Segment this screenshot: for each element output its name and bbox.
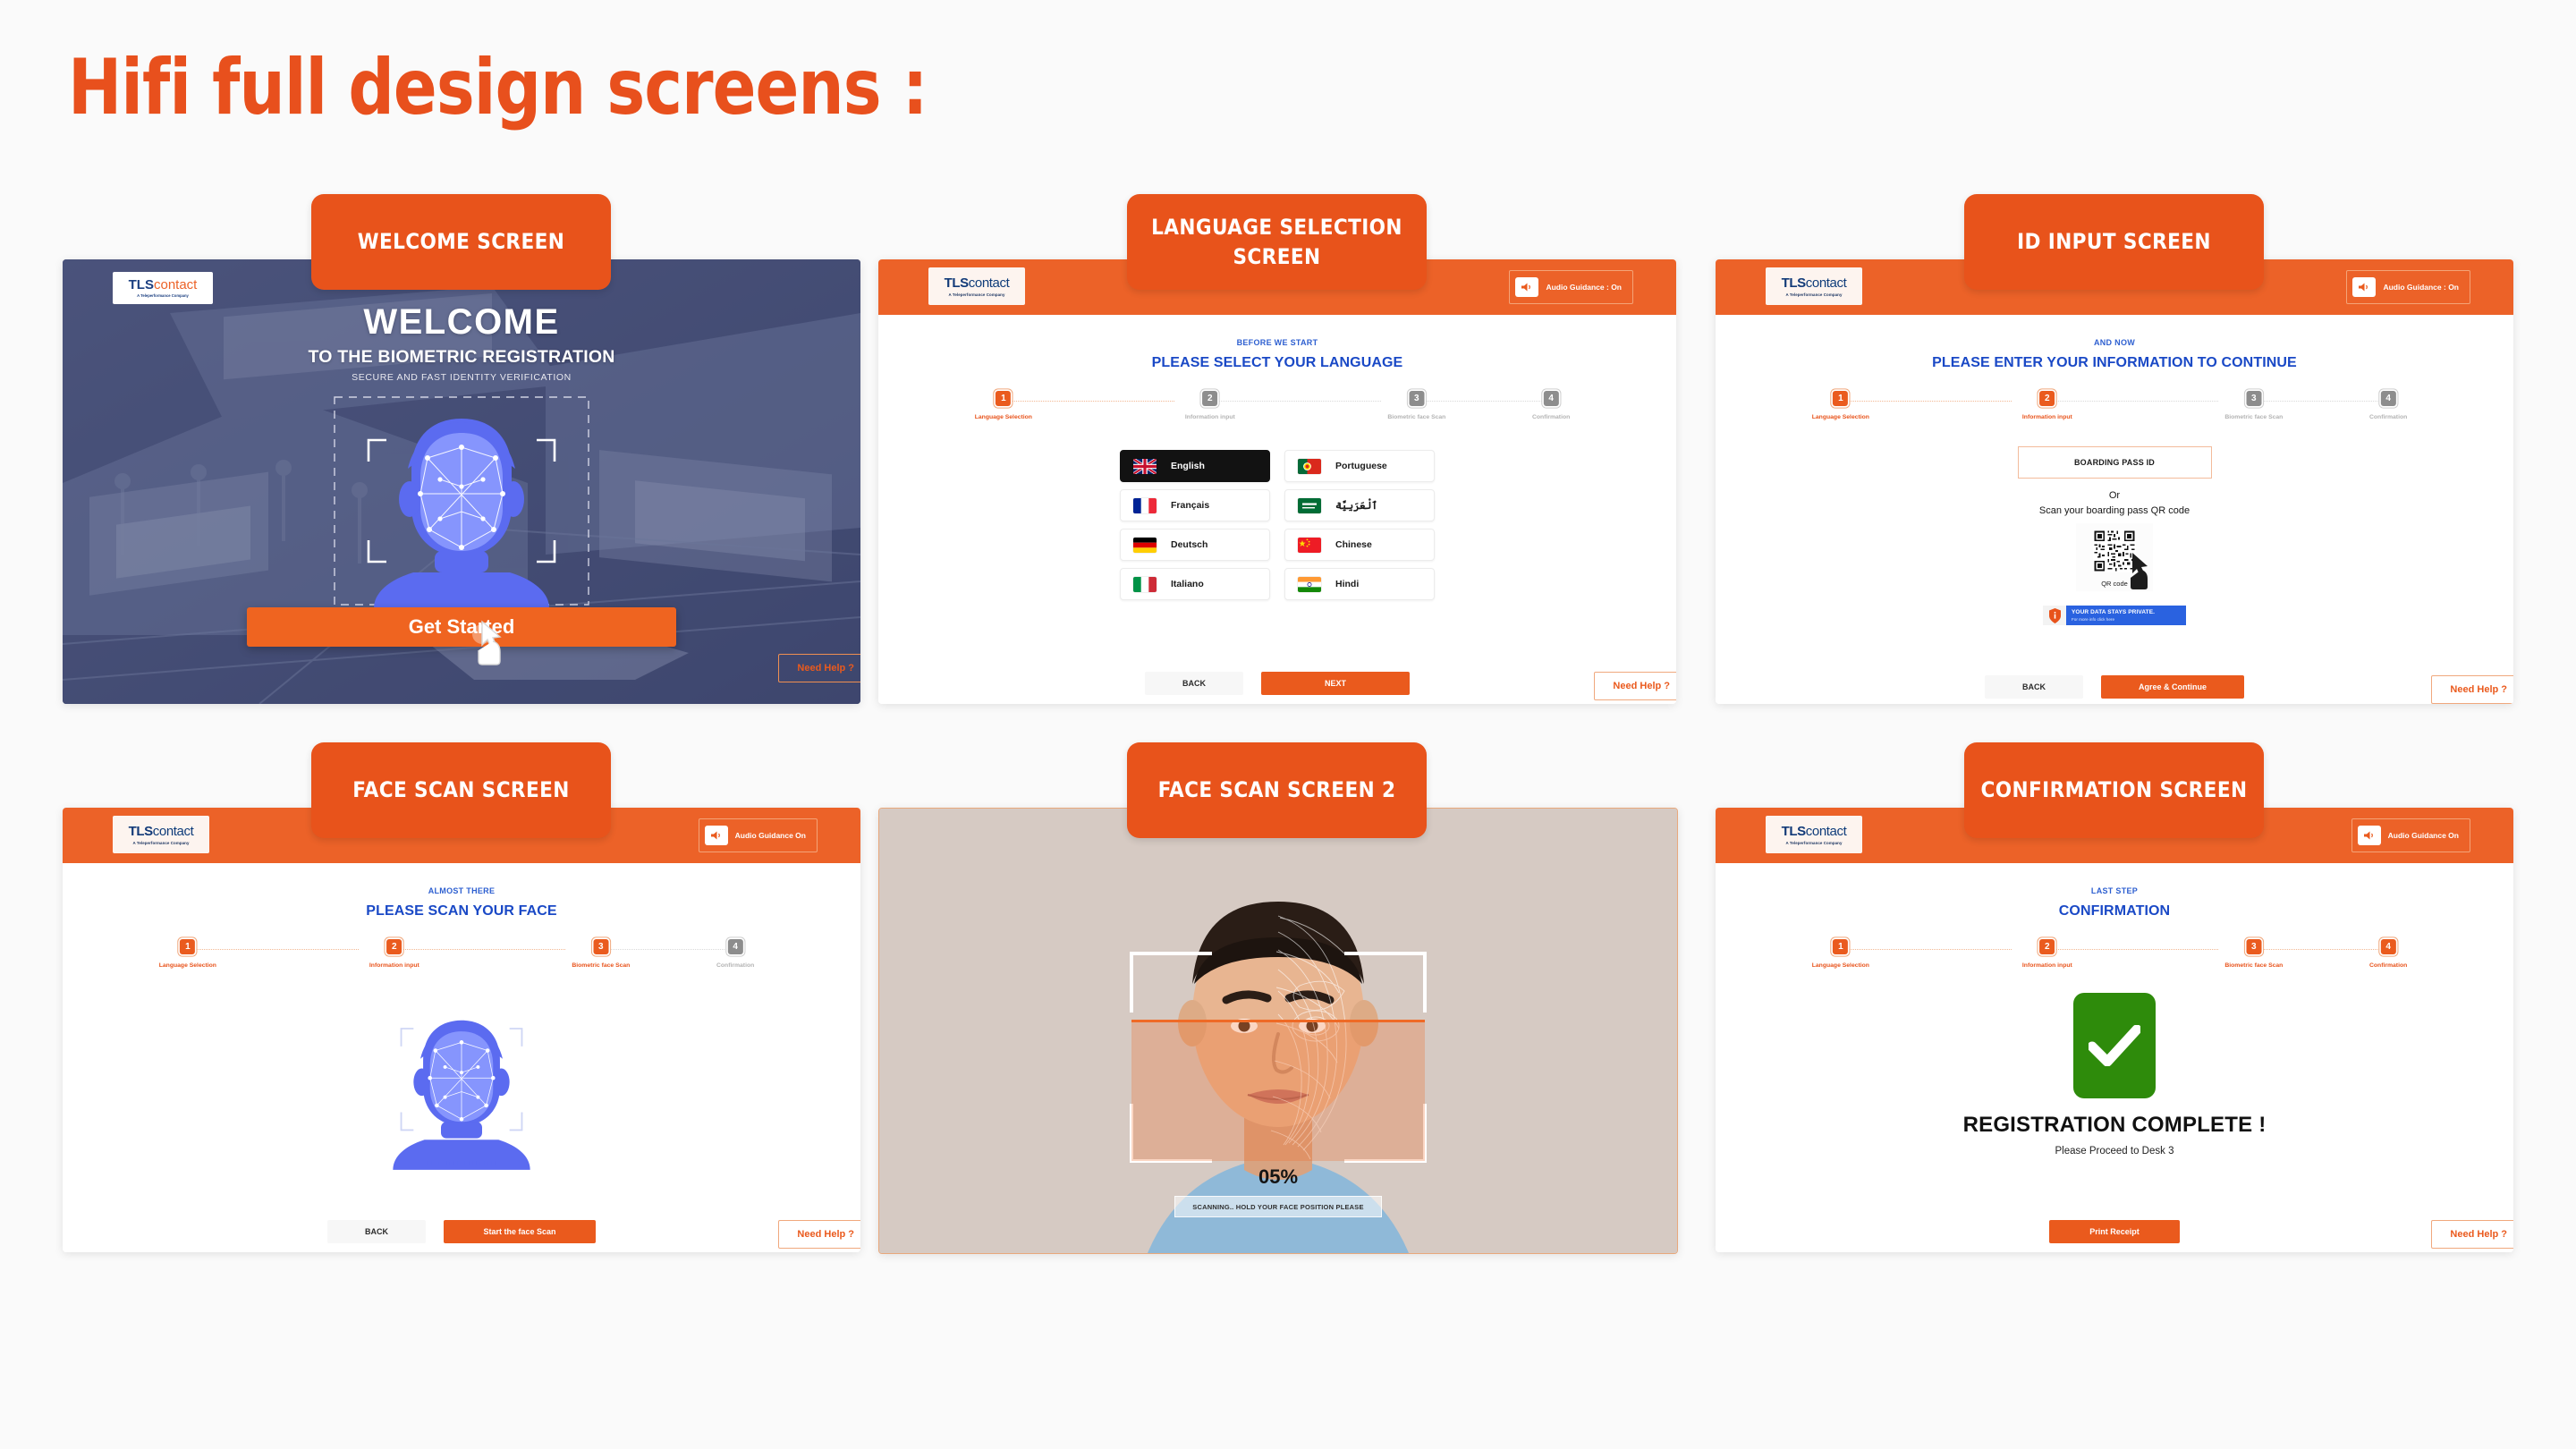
logo-tagline: A Teleperformance Company — [132, 841, 189, 845]
screen-card-face-scan-2: FACE SCAN SCREEN 2 — [878, 808, 1676, 1252]
step-1-number: 1 — [180, 939, 195, 954]
need-help-button[interactable]: Need Help ? — [778, 654, 860, 682]
italy-flag-icon — [1133, 577, 1157, 592]
speaker-icon — [2358, 826, 2381, 845]
face-scan-illustration — [327, 394, 596, 613]
print-receipt-label: Print Receipt — [2089, 1227, 2140, 1236]
agree-continue-label: Agree & Continue — [2139, 682, 2207, 691]
page-title: Hifi full design screens : — [68, 43, 928, 132]
speaker-icon — [1515, 277, 1538, 297]
eyebrow-text: AND NOW — [1716, 338, 2513, 347]
step-2-label: Information input — [2022, 414, 2072, 420]
step-1-number: 1 — [1833, 939, 1848, 954]
tls-logo: TLScontact A Teleperformance Company — [928, 267, 1025, 305]
step-3-number: 3 — [2246, 939, 2261, 954]
progress-stepper: 1 Language Selection 2 Information input… — [1803, 391, 2426, 428]
language-label: Chinese — [1335, 539, 1372, 550]
france-flag-icon — [1133, 498, 1157, 513]
logo-contact-text: contact — [1806, 824, 1847, 839]
agree-continue-button[interactable]: Agree & Continue — [2101, 675, 2244, 699]
back-label: BACK — [1182, 679, 1206, 688]
scan-status-bar: SCANNING.. HOLD YOUR FACE POSITION PLEAS… — [1174, 1196, 1382, 1217]
step-2-label: Information input — [369, 962, 419, 969]
welcome-title: WELCOME — [63, 302, 860, 343]
shield-icon — [2043, 606, 2066, 625]
id-input-body: AND NOW PLEASE ENTER YOUR INFORMATION TO… — [1716, 338, 2513, 704]
screen-card-welcome: WELCOME SCREEN — [63, 259, 860, 704]
step-2[interactable]: 2 Information input — [2022, 939, 2072, 969]
eyebrow-text: BEFORE WE START — [878, 338, 1676, 347]
logo-tls-text: TLS — [945, 275, 969, 291]
or-text: Or — [1716, 490, 2513, 501]
action-buttons: BACK NEXT — [878, 672, 1676, 695]
back-label: BACK — [365, 1227, 388, 1236]
step-4-label: Confirmation — [1532, 414, 1570, 420]
action-buttons: BACK Start the face Scan — [63, 1220, 860, 1243]
need-help-label: Need Help ? — [2450, 684, 2507, 695]
step-3[interactable]: 3 Biometric face Scan — [572, 939, 630, 969]
screen-heading: PLEASE ENTER YOUR INFORMATION TO CONTINU… — [1716, 355, 2513, 371]
portugal-flag-icon — [1298, 459, 1321, 474]
step-1[interactable]: 1 Language Selection — [975, 391, 1032, 420]
need-help-label: Need Help ? — [2450, 1229, 2507, 1240]
start-face-scan-button[interactable]: Start the face Scan — [444, 1220, 596, 1243]
saudi-flag-icon — [1298, 498, 1321, 513]
welcome-subtitle: TO THE BIOMETRIC REGISTRATION — [63, 347, 860, 368]
need-help-label: Need Help ? — [1613, 681, 1670, 691]
language-option-hindi[interactable]: Hindi — [1284, 568, 1435, 600]
back-label: BACK — [2022, 682, 2046, 691]
step-1[interactable]: 1 Language Selection — [159, 939, 216, 969]
audio-guidance-label: Audio Guidance On — [2388, 831, 2459, 840]
language-label: English — [1171, 461, 1205, 471]
screen-tab-welcome: WELCOME SCREEN — [311, 194, 611, 290]
step-1[interactable]: 1 Language Selection — [1812, 939, 1869, 969]
screen-tab-face-scan: FACE SCAN SCREEN — [311, 742, 611, 838]
logo-tls-text: TLS — [1782, 824, 1806, 839]
audio-guidance-label: Audio Guidance On — [735, 831, 806, 840]
scan-hint-text: Scan your boarding pass QR code — [1716, 505, 2513, 516]
privacy-title: YOUR DATA STAYS PRIVATE. — [2072, 609, 2181, 615]
step-3-label: Biometric face Scan — [2224, 962, 2283, 969]
logo-tls-text: TLS — [129, 277, 154, 292]
screen-card-language: LANGUAGE SELECTION SCREEN TLScontact A T… — [878, 259, 1676, 704]
audio-guidance-label: Audio Guidance : On — [2383, 283, 2459, 292]
screen-card-id-input: ID INPUT SCREEN TLScontact A Teleperform… — [1716, 259, 2513, 704]
eyebrow-text: LAST STEP — [1716, 886, 2513, 895]
tls-logo: TLScontact A Teleperformance Company — [1766, 816, 1862, 853]
step-3-label: Biometric face Scan — [572, 962, 630, 969]
screen-heading: CONFIRMATION — [1716, 903, 2513, 919]
language-label: ٱلْعَرَبِيَّة — [1335, 499, 1377, 512]
step-4-number: 4 — [1544, 391, 1559, 406]
logo-contact-text: contact — [1806, 275, 1847, 291]
speaker-icon — [2352, 277, 2376, 297]
qr-code-scan-target[interactable]: QR code — [2076, 523, 2153, 591]
qr-code-icon — [2093, 530, 2136, 572]
uk-flag-icon — [1133, 459, 1157, 474]
id-input-screen: TLScontact A Teleperformance Company Aud… — [1716, 259, 2513, 704]
step-1-label: Language Selection — [1812, 962, 1869, 969]
back-button[interactable]: BACK — [327, 1220, 426, 1243]
audio-guidance-toggle[interactable]: Audio Guidance : On — [2346, 270, 2470, 304]
face-scan-screen: TLScontact A Teleperformance Company Aud… — [63, 808, 860, 1252]
privacy-subtitle: For more info click here — [2072, 617, 2181, 622]
welcome-screen: TLScontact A Teleperformance Company WEL… — [63, 259, 860, 704]
language-screen-body: BEFORE WE START PLEASE SELECT YOUR LANGU… — [878, 338, 1676, 704]
back-button[interactable]: BACK — [1145, 672, 1243, 695]
step-4-number: 4 — [2381, 939, 2396, 954]
step-3-number: 3 — [1409, 391, 1424, 406]
screen-card-confirmation: CONFIRMATION SCREEN TLScontact A Teleper… — [1716, 808, 2513, 1252]
privacy-badge[interactable]: YOUR DATA STAYS PRIVATE. For more info c… — [2043, 606, 2186, 625]
step-1-number: 1 — [996, 391, 1011, 406]
boarding-pass-placeholder: BOARDING PASS ID — [2074, 458, 2155, 467]
back-button[interactable]: BACK — [1985, 675, 2083, 699]
start-face-scan-label: Start the face Scan — [483, 1227, 555, 1236]
step-1-label: Language Selection — [159, 962, 216, 969]
step-2-number: 2 — [386, 939, 402, 954]
step-3-label: Biometric face Scan — [2224, 414, 2283, 420]
logo-contact-text: contact — [154, 277, 197, 292]
step-2-label: Information input — [2022, 962, 2072, 969]
step-4-number: 4 — [2381, 391, 2396, 406]
progress-stepper: 1 Language Selection 2 Information input… — [150, 939, 773, 977]
language-option-italiano[interactable]: Italiano — [1120, 568, 1270, 600]
registration-complete-subtitle: Please Proceed to Desk 3 — [1716, 1146, 2513, 1157]
audio-guidance-toggle[interactable]: Audio Guidance : On — [1509, 270, 1633, 304]
face-scan-body: ALMOST THERE PLEASE SCAN YOUR FACE 1 Lan… — [63, 886, 860, 1252]
step-3-label: Biometric face Scan — [1387, 414, 1445, 420]
next-label: NEXT — [1325, 679, 1346, 688]
confirmation-screen: TLScontact A Teleperformance Company Aud… — [1716, 808, 2513, 1252]
get-started-label: Get Started — [409, 615, 515, 639]
logo-contact-text: contact — [153, 824, 194, 839]
language-option-francais[interactable]: Français — [1120, 489, 1270, 521]
check-icon — [2073, 993, 2156, 1098]
step-2-number: 2 — [1202, 391, 1217, 406]
screen-tab-language: LANGUAGE SELECTION SCREEN — [1127, 194, 1427, 290]
step-4[interactable]: 4 Confirmation — [2369, 939, 2407, 969]
step-3-number: 3 — [2246, 391, 2261, 406]
step-3[interactable]: 3 Biometric face Scan — [1387, 391, 1445, 420]
language-label: Portuguese — [1335, 461, 1387, 471]
audio-guidance-label: Audio Guidance : On — [1546, 283, 1622, 292]
step-2[interactable]: 2 Information input — [2022, 391, 2072, 420]
speaker-icon — [705, 826, 728, 845]
scan-progress-percent: 05% — [1258, 1165, 1298, 1189]
language-option-arabic[interactable]: ٱلْعَرَبِيَّة — [1284, 489, 1435, 521]
progress-stepper: 1 Language Selection 2 Information input… — [966, 391, 1589, 428]
step-1[interactable]: 1 Language Selection — [1812, 391, 1869, 420]
step-2[interactable]: 2 Information input — [1185, 391, 1235, 420]
screen-tab-face-scan-2: FACE SCAN SCREEN 2 — [1127, 742, 1427, 838]
step-1-number: 1 — [1833, 391, 1848, 406]
logo-tagline: A Teleperformance Company — [948, 292, 1004, 297]
get-started-button[interactable]: Get Started — [247, 607, 676, 647]
step-4-number: 4 — [728, 939, 743, 954]
print-receipt-button[interactable]: Print Receipt — [2049, 1220, 2180, 1243]
logo-tagline: A Teleperformance Company — [1785, 292, 1842, 297]
germany-flag-icon — [1133, 538, 1157, 553]
face-scan-illustration — [359, 1001, 564, 1184]
registration-complete-title: REGISTRATION COMPLETE ! — [1716, 1113, 2513, 1138]
screen-tab-id-input: ID INPUT SCREEN — [1964, 194, 2264, 290]
logo-contact-text: contact — [969, 275, 1010, 291]
step-4-label: Confirmation — [716, 962, 754, 969]
progress-stepper: 1 Language Selection 2 Information input… — [1803, 939, 2426, 977]
boarding-pass-id-input[interactable]: BOARDING PASS ID — [2018, 446, 2212, 479]
logo-tagline: A Teleperformance Company — [1785, 841, 1842, 845]
tls-logo: TLScontact A Teleperformance Company — [1766, 267, 1862, 305]
step-2-label: Information input — [1185, 414, 1235, 420]
tls-logo: TLScontact A Teleperformance Company — [113, 816, 209, 853]
action-buttons: Print Receipt — [1716, 1220, 2513, 1243]
language-grid: English Portuguese Français — [1120, 450, 1435, 600]
audio-guidance-toggle[interactable]: Audio Guidance On — [699, 818, 818, 852]
language-label: Deutsch — [1171, 539, 1207, 550]
india-flag-icon — [1298, 577, 1321, 592]
language-label: Français — [1171, 500, 1209, 511]
step-3[interactable]: 3 Biometric face Scan — [2224, 391, 2283, 420]
screen-heading: PLEASE SELECT YOUR LANGUAGE — [878, 355, 1676, 371]
step-1-label: Language Selection — [975, 414, 1032, 420]
logo-tls-text: TLS — [1782, 275, 1806, 291]
language-label: Hindi — [1335, 579, 1359, 589]
action-buttons: BACK Agree & Continue — [1716, 675, 2513, 699]
screen-tab-confirmation: CONFIRMATION SCREEN — [1964, 742, 2264, 838]
step-1-label: Language Selection — [1812, 414, 1869, 420]
step-2[interactable]: 2 Information input — [369, 939, 419, 969]
step-4[interactable]: 4 Confirmation — [1532, 391, 1570, 420]
language-option-deutsch[interactable]: Deutsch — [1120, 529, 1270, 561]
logo-tls-text: TLS — [129, 824, 153, 839]
need-help-button[interactable]: Need Help ? — [1594, 672, 1676, 700]
tls-logo: TLScontact A Teleperformance Company — [113, 272, 213, 304]
screen-card-face-scan: FACE SCAN SCREEN TLScontact A Teleperfor… — [63, 808, 860, 1252]
language-option-chinese[interactable]: Chinese — [1284, 529, 1435, 561]
step-2-number: 2 — [2039, 939, 2055, 954]
need-help-label: Need Help ? — [797, 1229, 854, 1240]
language-selection-screen: TLScontact A Teleperformance Company Aud… — [878, 259, 1676, 704]
confirmation-body: LAST STEP CONFIRMATION 1 Language Select… — [1716, 886, 2513, 1252]
live-camera-feed: 05% SCANNING.. HOLD YOUR FACE POSITION P… — [879, 809, 1677, 1253]
qr-code-label: QR code — [2081, 580, 2148, 588]
language-label: Italiano — [1171, 579, 1204, 589]
face-scan-2-screen: 05% SCANNING.. HOLD YOUR FACE POSITION P… — [878, 808, 1678, 1254]
language-option-portuguese[interactable]: Portuguese — [1284, 450, 1435, 482]
scan-status-label: SCANNING.. HOLD YOUR FACE POSITION PLEAS… — [1192, 1203, 1363, 1211]
step-4[interactable]: 4 Confirmation — [2369, 391, 2407, 420]
step-2-number: 2 — [2039, 391, 2055, 406]
audio-guidance-toggle[interactable]: Audio Guidance On — [2351, 818, 2470, 852]
logo-tagline: A Teleperformance Company — [137, 293, 189, 298]
need-help-button[interactable]: Need Help ? — [778, 1220, 860, 1249]
screen-heading: PLEASE SCAN YOUR FACE — [63, 903, 860, 919]
need-help-label: Need Help ? — [797, 663, 854, 674]
china-flag-icon — [1298, 538, 1321, 553]
step-4-label: Confirmation — [2369, 962, 2407, 969]
step-3[interactable]: 3 Biometric face Scan — [2224, 939, 2283, 969]
language-option-english[interactable]: English — [1120, 450, 1270, 482]
eyebrow-text: ALMOST THERE — [63, 886, 860, 895]
need-help-button[interactable]: Need Help ? — [2431, 675, 2513, 704]
step-4[interactable]: 4 Confirmation — [716, 939, 754, 969]
welcome-tagline: SECURE AND FAST IDENTITY VERIFICATION — [63, 372, 860, 383]
need-help-button[interactable]: Need Help ? — [2431, 1220, 2513, 1249]
step-4-label: Confirmation — [2369, 414, 2407, 420]
step-3-number: 3 — [593, 939, 608, 954]
next-button[interactable]: NEXT — [1261, 672, 1410, 695]
